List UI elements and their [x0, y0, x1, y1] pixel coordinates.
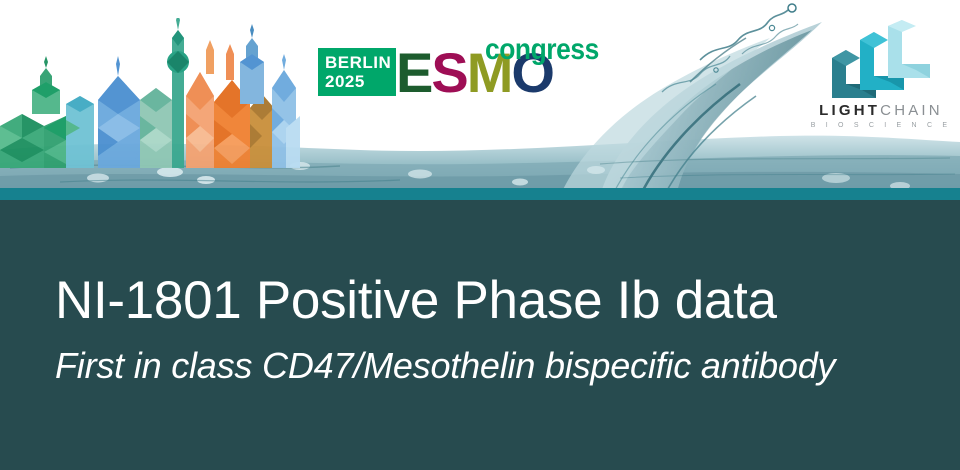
title-panel — [0, 200, 960, 470]
logo-word-chain: CHAIN — [880, 102, 943, 119]
esmo-letter-s: S — [431, 50, 466, 96]
logo-word-light: LIGHT — [819, 102, 880, 119]
light-chain-mark-icon — [830, 20, 934, 102]
page-title: NI-1801 Positive Phase Ib data — [55, 272, 777, 330]
page-subtitle: First in class CD47/Mesothelin bispecifi… — [55, 345, 835, 387]
light-chain-wordmark: LIGHTCHAIN — [808, 102, 954, 120]
accent-stripe — [0, 188, 960, 200]
esmo-letter-e: E — [396, 50, 431, 96]
slide-header-band: BERLIN 2025 E S M O congress — [0, 0, 960, 196]
berlin-skyline-illustration — [0, 18, 300, 178]
esmo-event-word: congress — [485, 33, 599, 67]
esmo-year: 2025 — [325, 72, 396, 91]
logo-tagline-bioscience: B I O S C I E N C E — [808, 122, 954, 129]
presentation-slide: BERLIN 2025 E S M O congress — [0, 0, 960, 470]
esmo-city-year-box: BERLIN 2025 — [318, 48, 396, 96]
light-chain-bioscience-logo: LIGHTCHAIN B I O S C I E N C E — [808, 20, 954, 132]
esmo-city: BERLIN — [325, 53, 396, 72]
